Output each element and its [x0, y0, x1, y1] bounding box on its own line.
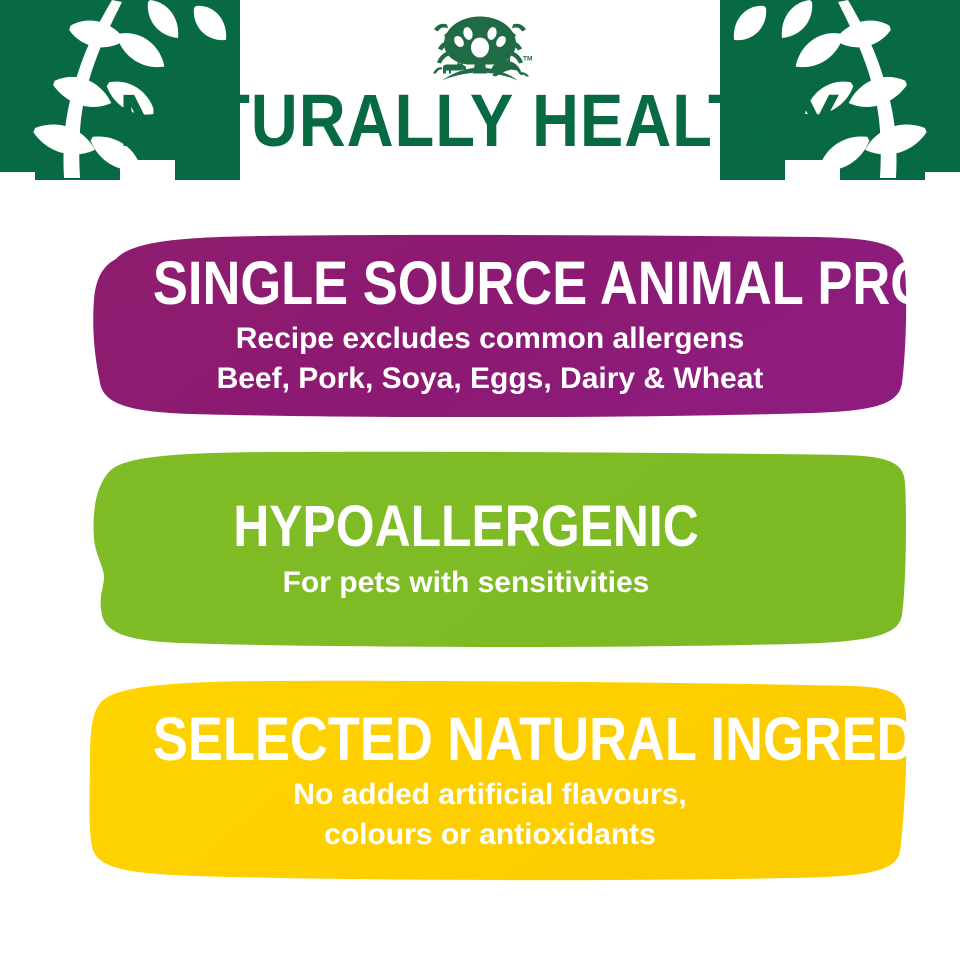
banner-content: SELECTED NATURAL INGREDIENTS No added ar… — [72, 707, 908, 855]
header: TM NATURALLY HEALTHY — [0, 0, 960, 185]
banner-sublines: Recipe excludes common allergens Beef, P… — [98, 319, 882, 399]
banner-headline: HYPOALLERGENIC — [129, 496, 803, 558]
feature-banner-selected-natural-ingredients: SELECTED NATURAL INGREDIENTS No added ar… — [72, 679, 908, 883]
infographic-page: TM NATURALLY HEALTHY SINGLE SOURCE ANIMA… — [0, 0, 960, 960]
banner-content: SINGLE SOURCE ANIMAL PROTEIN Recipe excl… — [72, 251, 908, 399]
feature-banner-hypoallergenic: HYPOALLERGENIC For pets with sensitiviti… — [72, 449, 908, 650]
banner-content: HYPOALLERGENIC For pets with sensitiviti… — [72, 496, 884, 604]
banner-subline: Recipe excludes common allergens — [98, 319, 882, 359]
banner-sublines: No added artificial flavours, colours or… — [98, 775, 882, 855]
trademark-mark: TM — [523, 56, 532, 63]
banner-sublines: For pets with sensitivities — [74, 562, 858, 604]
page-title: NATURALLY HEALTHY — [58, 84, 903, 158]
banner-subline: No added artificial flavours, — [98, 775, 882, 815]
banner-subline: Beef, Pork, Soya, Eggs, Dairy & Wheat — [98, 359, 882, 399]
feature-banner-single-source-animal-protein: SINGLE SOURCE ANIMAL PROTEIN Recipe excl… — [72, 233, 908, 417]
banner-headline: SELECTED NATURAL INGREDIENTS — [153, 707, 827, 771]
banner-subline: colours or antioxidants — [98, 815, 882, 855]
banner-subline: For pets with sensitivities — [74, 562, 858, 604]
banner-headline: SINGLE SOURCE ANIMAL PROTEIN — [153, 251, 827, 315]
